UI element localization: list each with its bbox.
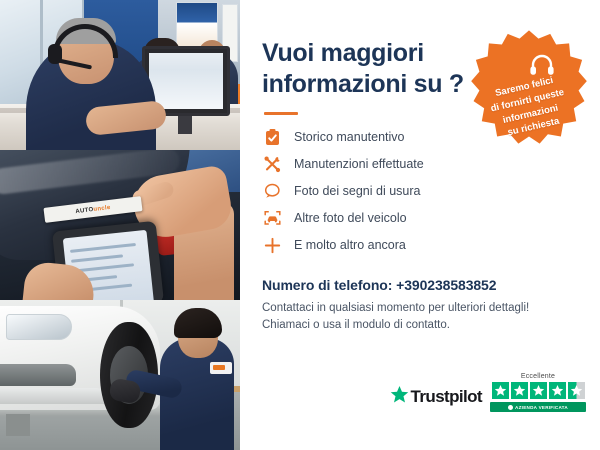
contact-instructions-line-1: Contattaci in qualsiasi momento per ulte…	[262, 302, 529, 314]
monitor-stand	[178, 116, 192, 134]
page-title-line-1: Vuoi maggiori	[262, 39, 424, 67]
phone-line: Numero di telefono: +390238583852	[262, 277, 574, 293]
feature-list: Storico manutentivo Manutenzioni effettu…	[262, 127, 574, 255]
car-front-bumper	[0, 388, 106, 404]
list-item-label: Foto dei segni di usura	[294, 184, 420, 198]
page-title-line-2: informazioni su ?	[262, 70, 464, 98]
contact-instructions: Contattaci in qualsiasi momento per ulte…	[262, 300, 574, 335]
plus-icon	[262, 235, 282, 255]
trustpilot-widget[interactable]: Trustpilot Eccellente	[390, 373, 586, 412]
clipboard-check-icon	[262, 127, 282, 147]
contact-instructions-line-2: Chiamaci o usa il modulo di contatto.	[262, 319, 450, 331]
mechanic-uniform-badge	[210, 362, 232, 374]
phone-label: Numero di telefono:	[262, 277, 392, 293]
list-item-label: Altre foto del veicolo	[294, 211, 407, 225]
trustpilot-brand: Trustpilot	[390, 385, 482, 412]
check-circle-icon	[508, 405, 513, 410]
car-lift-post	[6, 414, 30, 436]
trustpilot-star-filled	[492, 382, 509, 399]
car-front-grille	[0, 364, 76, 386]
trustpilot-star-half	[568, 382, 585, 399]
list-item: Manutenzioni effettuate	[262, 154, 574, 174]
list-item: Altre foto del veicolo	[262, 208, 574, 228]
mechanic-wheel-inspection-photo	[0, 300, 240, 450]
trustpilot-rating: Eccellente	[490, 373, 586, 412]
phone-number[interactable]: +390238583852	[396, 277, 496, 293]
trustpilot-star-icon	[390, 385, 409, 409]
page-title: Vuoi maggiori informazioni su ?	[262, 38, 477, 99]
verified-business-badge: AZIENDA VERIFICATA	[490, 402, 586, 412]
tablet-text-line	[71, 254, 123, 262]
list-item-label: Manutenzioni effettuate	[294, 157, 424, 171]
tools-cross-icon	[262, 154, 282, 174]
list-item: E molto altro ancora	[262, 235, 574, 255]
car-headlight	[6, 314, 72, 340]
tablet-text-line	[70, 243, 136, 253]
verified-business-label: AZIENDA VERIFICATA	[515, 405, 568, 410]
trustpilot-rating-caption: Eccellente	[521, 373, 555, 380]
photo-column: AUTOuncle	[0, 0, 240, 450]
list-item-label: Storico manutentivo	[294, 130, 404, 144]
list-item-label: E molto altro ancora	[294, 238, 406, 252]
trustpilot-wordmark: Trustpilot	[411, 387, 482, 407]
speech-bubble-icon	[262, 181, 282, 201]
sticker-brand-suffix: uncle	[93, 204, 111, 212]
call-center-agents-photo	[0, 0, 240, 150]
list-item: Foto dei segni di usura	[262, 181, 574, 201]
content-panel: Vuoi maggiori informazioni su ? Storico …	[240, 0, 600, 450]
sticker-on-car-photo: AUTOuncle	[0, 150, 240, 300]
trustpilot-star-filled	[511, 382, 528, 399]
callout-starburst-badge: Saremo felici di fornirti queste informa…	[470, 28, 588, 146]
car-scan-frame-icon	[262, 208, 282, 228]
promo-banner: AUTOuncle	[0, 0, 600, 450]
sticker-brand-prefix: AUTO	[75, 206, 94, 214]
trustpilot-star-filled	[549, 382, 566, 399]
trustpilot-star-filled	[530, 382, 547, 399]
trustpilot-stars	[492, 382, 585, 399]
title-divider	[264, 112, 298, 115]
